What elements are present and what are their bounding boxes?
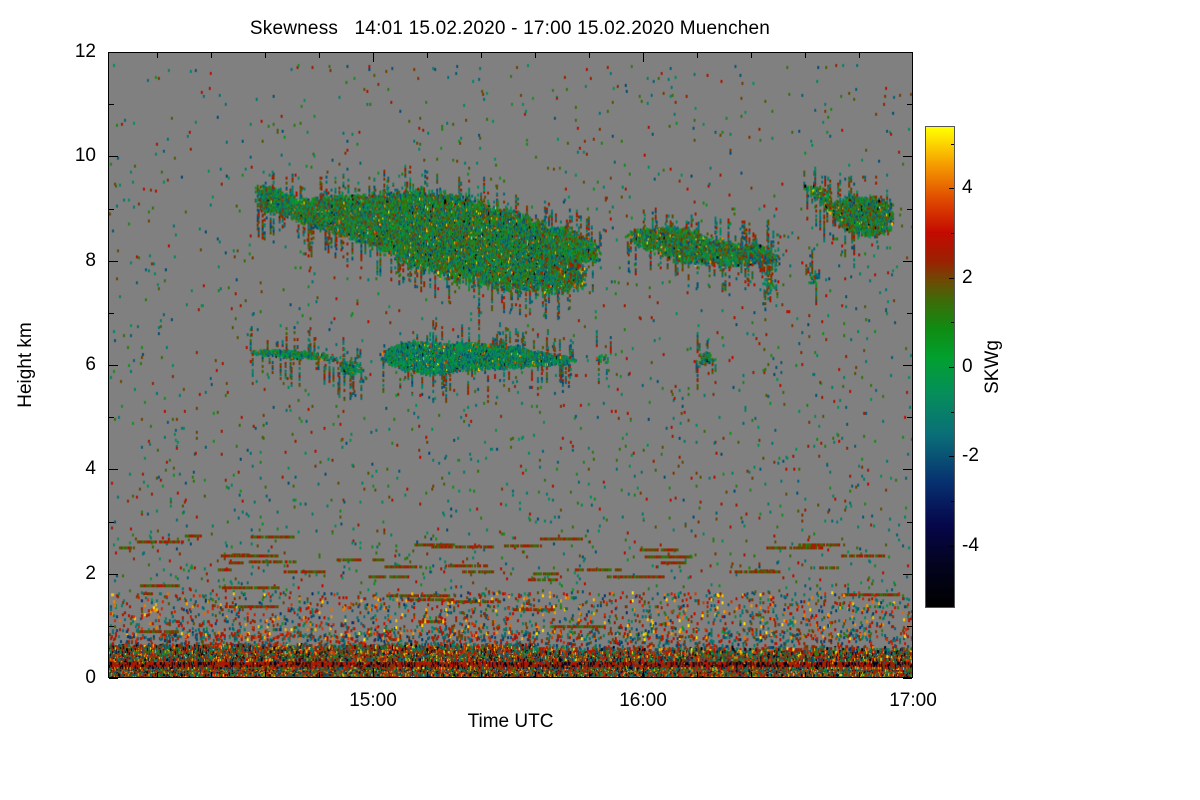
y-tick-label: 4: [56, 458, 96, 480]
y-tick-major: [109, 261, 118, 262]
colorbar-tick: [949, 546, 954, 547]
colorbar-tick-label: 4: [962, 177, 973, 199]
y-tick-minor-right: [907, 522, 912, 523]
y-tick-minor: [109, 209, 114, 210]
x-tick-minor: [751, 672, 752, 677]
y-tick-major-right: [903, 156, 912, 157]
x-tick-minor: [859, 672, 860, 677]
x-tick-minor-top: [535, 53, 536, 58]
x-tick-minor-top: [589, 53, 590, 58]
x-tick-label: 16:00: [619, 690, 667, 712]
y-tick-minor: [109, 626, 114, 627]
y-tick-label: 12: [56, 41, 96, 63]
y-tick-major: [109, 678, 118, 679]
x-tick-minor-top: [697, 53, 698, 58]
figure-title: Skewness 14:01 15.02.2020 - 17:00 15.02.…: [0, 18, 1020, 40]
y-tick-minor: [109, 104, 114, 105]
y-tick-label: 6: [56, 354, 96, 376]
x-tick-minor-top: [427, 53, 428, 58]
x-tick-major: [643, 668, 644, 677]
colorbar-tick-minor: [951, 412, 954, 413]
heatmap-canvas: [109, 53, 912, 677]
y-tick-major-right: [903, 52, 912, 53]
y-tick-major: [109, 52, 118, 53]
y-tick-major-right: [903, 574, 912, 575]
x-tick-minor-top: [265, 53, 266, 58]
y-tick-major-right: [903, 261, 912, 262]
colorbar-title: SKWg: [982, 340, 1004, 394]
y-tick-minor-right: [907, 417, 912, 418]
colorbar-tick-minor: [951, 322, 954, 323]
x-tick-major: [912, 668, 913, 677]
colorbar-tick: [949, 456, 954, 457]
y-tick-minor-right: [907, 209, 912, 210]
y-tick-major-right: [903, 678, 912, 679]
y-tick-minor-right: [907, 626, 912, 627]
x-tick-minor-top: [481, 53, 482, 58]
y-tick-major-right: [903, 365, 912, 366]
colorbar-tick: [949, 188, 954, 189]
x-tick-minor: [481, 672, 482, 677]
x-tick-minor-top: [211, 53, 212, 58]
x-tick-minor: [535, 672, 536, 677]
x-tick-minor: [427, 672, 428, 677]
x-tick-minor-top: [319, 53, 320, 58]
y-tick-minor: [109, 417, 114, 418]
figure-root: Skewness 14:01 15.02.2020 - 17:00 15.02.…: [0, 0, 1200, 800]
colorbar-tick-minor: [951, 590, 954, 591]
y-tick-major-right: [903, 469, 912, 470]
y-tick-major: [109, 574, 118, 575]
y-tick-label: 8: [56, 250, 96, 272]
y-axis-title: Height km: [15, 322, 37, 408]
x-tick-major-top: [643, 53, 644, 62]
x-tick-minor: [211, 672, 212, 677]
colorbar-tick-label: 2: [962, 267, 973, 289]
y-tick-label: 10: [56, 145, 96, 167]
colorbar-tick-label: -2: [962, 445, 979, 467]
plot-area[interactable]: [108, 52, 913, 678]
colorbar-tick: [949, 367, 954, 368]
x-tick-minor-top: [859, 53, 860, 58]
y-tick-major: [109, 469, 118, 470]
x-tick-major: [373, 668, 374, 677]
x-tick-minor-top: [751, 53, 752, 58]
colorbar-tick-label: 0: [962, 356, 973, 378]
x-tick-label: 17:00: [889, 690, 937, 712]
x-tick-minor-top: [805, 53, 806, 58]
x-tick-minor: [319, 672, 320, 677]
x-tick-minor: [265, 672, 266, 677]
x-tick-major-top: [912, 53, 913, 62]
x-axis-title: Time UTC: [108, 711, 913, 733]
y-tick-label: 2: [56, 563, 96, 585]
colorbar-tick-label: -4: [962, 535, 979, 557]
x-tick-minor-top: [157, 53, 158, 58]
y-tick-major: [109, 365, 118, 366]
y-tick-major: [109, 156, 118, 157]
colorbar-tick-minor: [951, 233, 954, 234]
y-tick-label: 0: [56, 667, 96, 689]
x-tick-label: 15:00: [349, 690, 397, 712]
y-tick-minor: [109, 522, 114, 523]
colorbar-tick-minor: [951, 144, 954, 145]
y-tick-minor-right: [907, 313, 912, 314]
y-tick-minor-right: [907, 104, 912, 105]
x-tick-minor: [697, 672, 698, 677]
x-tick-minor: [805, 672, 806, 677]
colorbar-tick: [949, 278, 954, 279]
x-tick-minor: [157, 672, 158, 677]
x-tick-major-top: [373, 53, 374, 62]
y-tick-minor: [109, 313, 114, 314]
x-tick-minor: [589, 672, 590, 677]
colorbar-tick-minor: [951, 501, 954, 502]
